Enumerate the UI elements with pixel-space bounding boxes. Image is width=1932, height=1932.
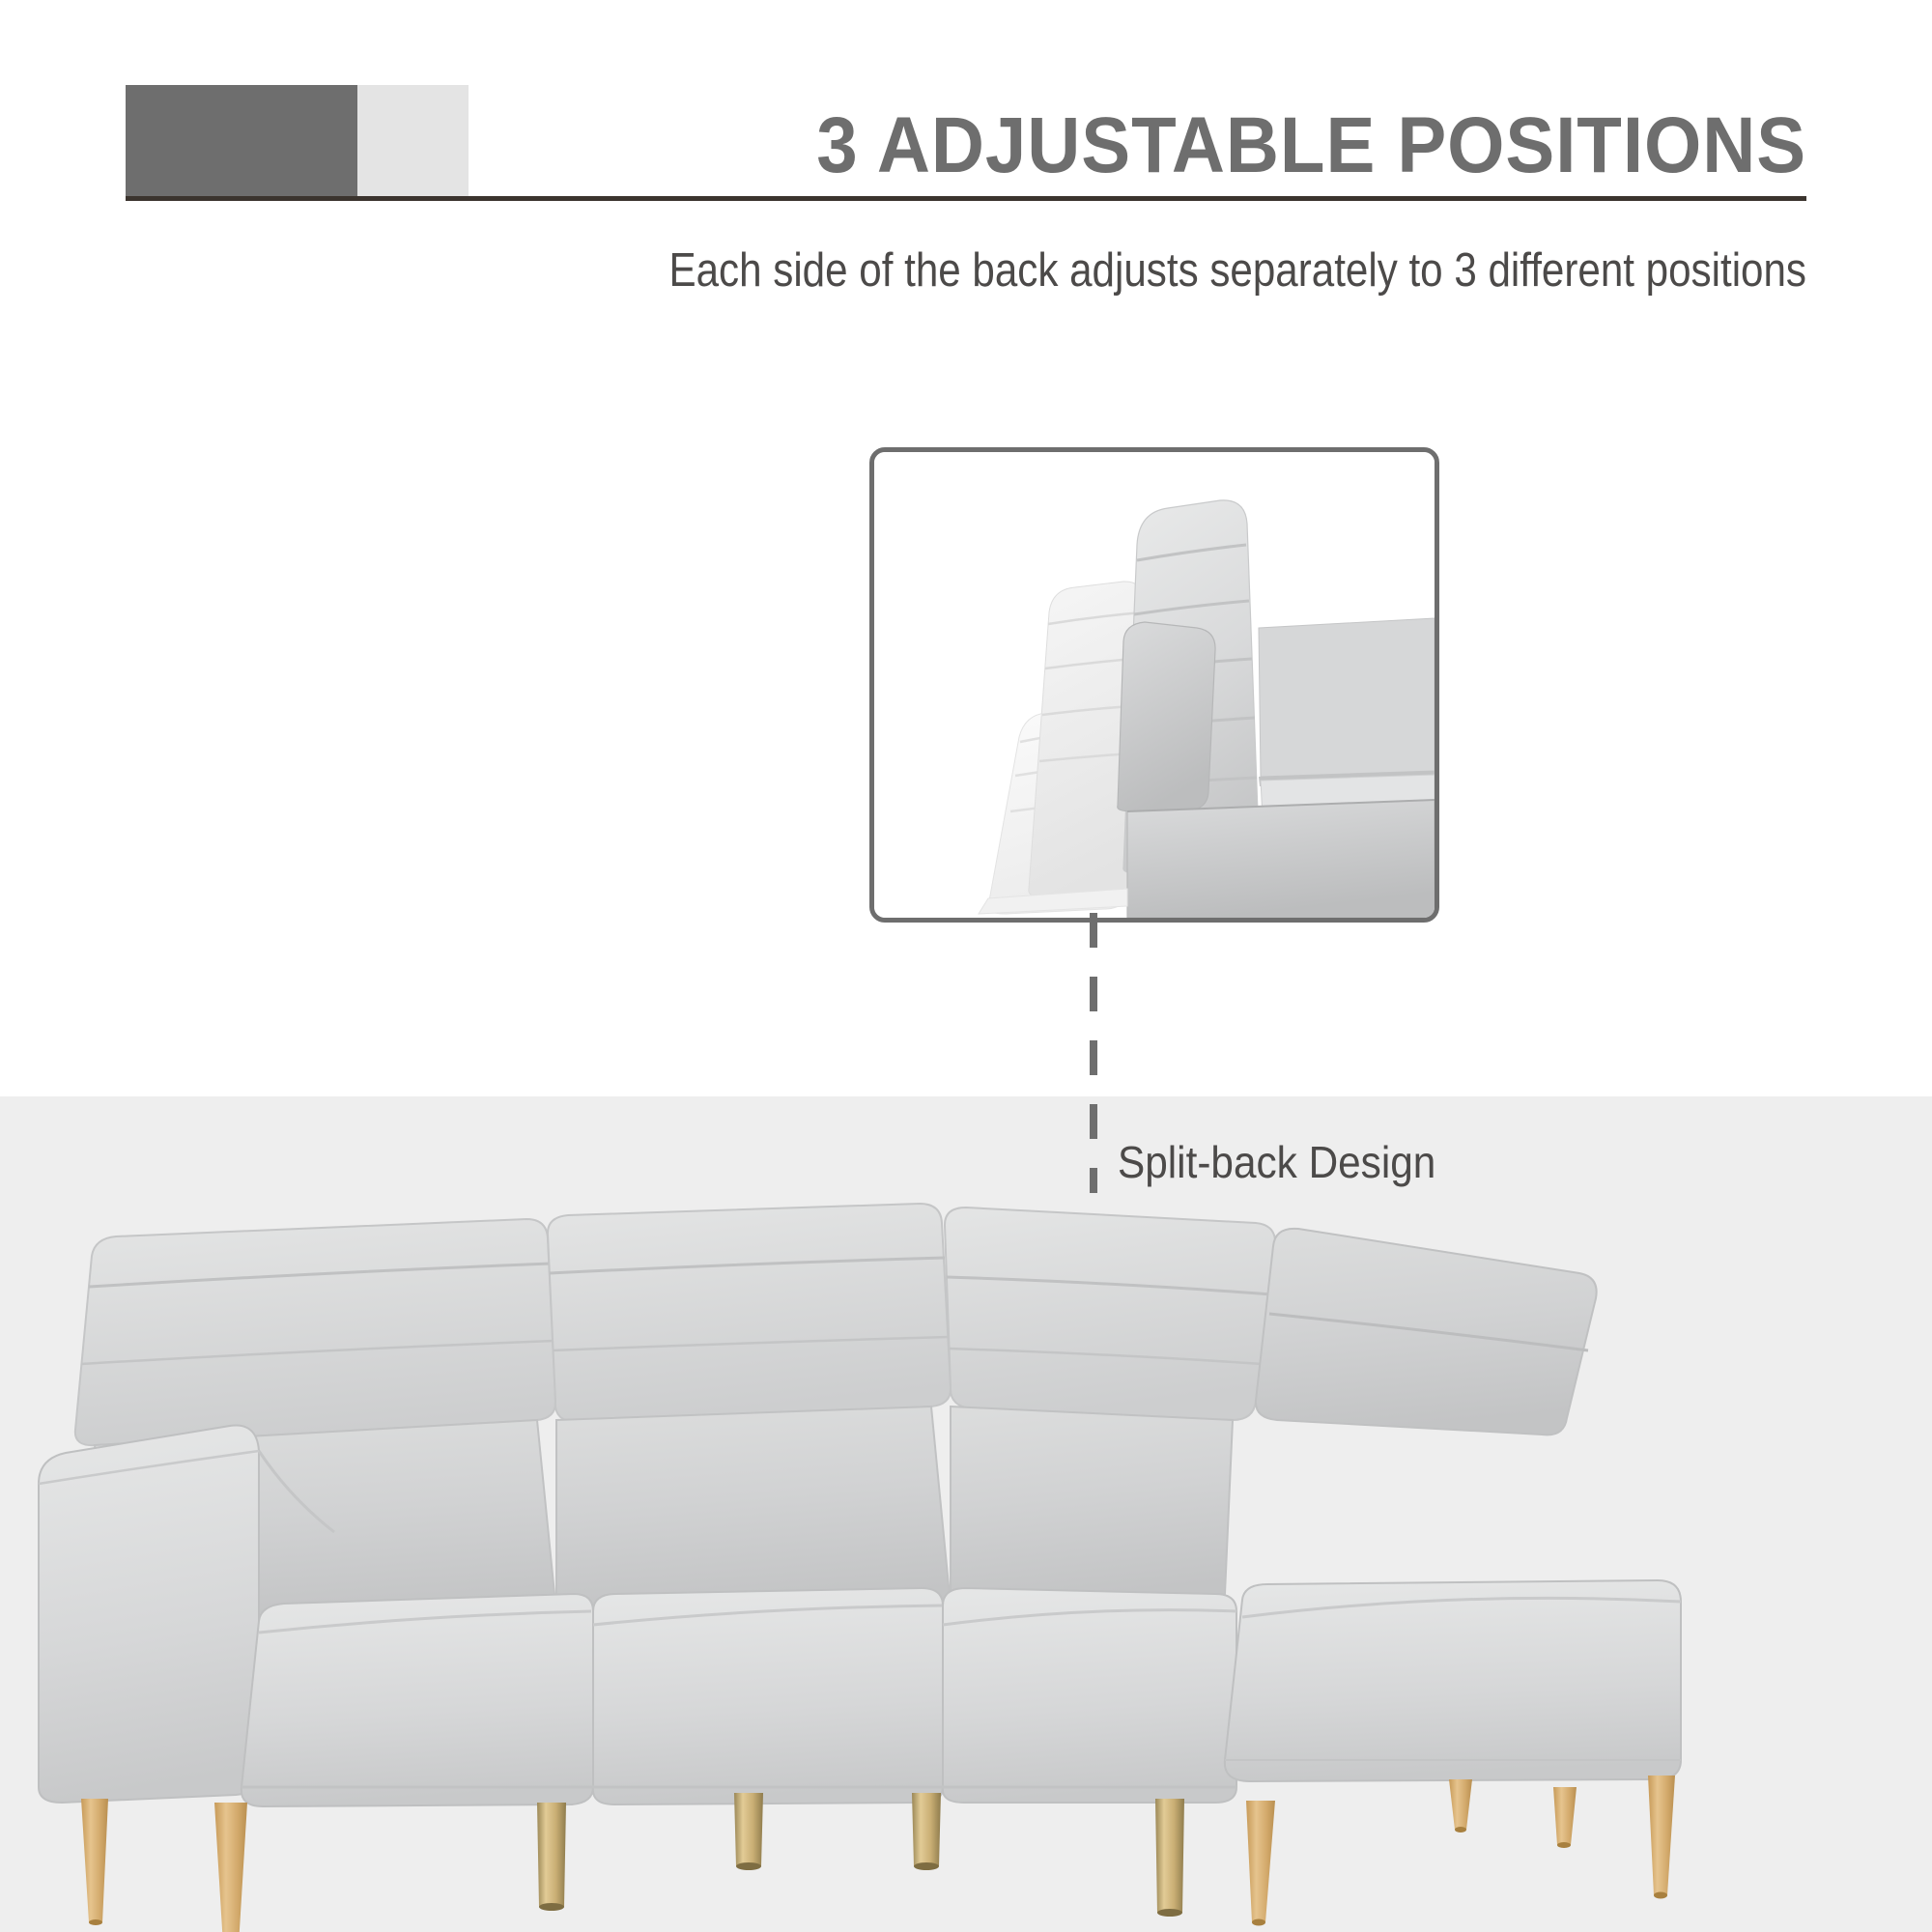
header-swatch-light (357, 85, 469, 198)
leg-wood-ottoman-rear (1246, 1801, 1275, 1926)
sofa-illustration (0, 1111, 1932, 1932)
page-subtitle: Each side of the back adjusts separately… (469, 241, 1806, 299)
leg-brass-left (537, 1803, 566, 1911)
backrest-right-reclined (945, 1207, 1275, 1420)
backrest-recline-illustration (874, 452, 1435, 918)
callout-box-backrest-closeup (869, 447, 1439, 923)
seat-cushion-right (943, 1588, 1236, 1803)
header: 3 ADJUSTABLE POSITIONS Each side of the … (0, 0, 1932, 290)
leg-wood-ottoman-front-left (1449, 1779, 1472, 1833)
seat-back-panel-right (951, 1406, 1233, 1605)
leg-wood-ottoman-front-right (1648, 1776, 1675, 1899)
leg-brass-far-right (1155, 1799, 1184, 1917)
leg-wood-rear-left (81, 1799, 108, 1925)
ottoman-chaise (1225, 1580, 1681, 1781)
backrest-middle-upright (548, 1204, 951, 1422)
sofa-arm-panel (1259, 618, 1435, 786)
leg-brass-mid (734, 1793, 763, 1870)
backrest-left-upright (75, 1219, 555, 1445)
sofa-front-arm-block (1127, 800, 1435, 918)
callout-image-backrest-recline (874, 452, 1435, 918)
header-divider-rule (126, 196, 1806, 201)
seat-cushion-middle (593, 1588, 943, 1804)
product-photo-sofa (0, 1111, 1932, 1932)
loose-back-cushion (1118, 622, 1215, 811)
seat-cushion-left (241, 1594, 593, 1806)
header-swatch-dark (126, 85, 357, 198)
seat-back-panel-middle (556, 1406, 951, 1613)
leg-wood-ottoman-rear-right (1553, 1787, 1577, 1848)
page-title: 3 ADJUSTABLE POSITIONS (594, 93, 1807, 199)
leg-wood-front-left (214, 1803, 247, 1932)
leg-brass-right (912, 1793, 941, 1870)
backrest-far-right-folded (1256, 1229, 1597, 1435)
